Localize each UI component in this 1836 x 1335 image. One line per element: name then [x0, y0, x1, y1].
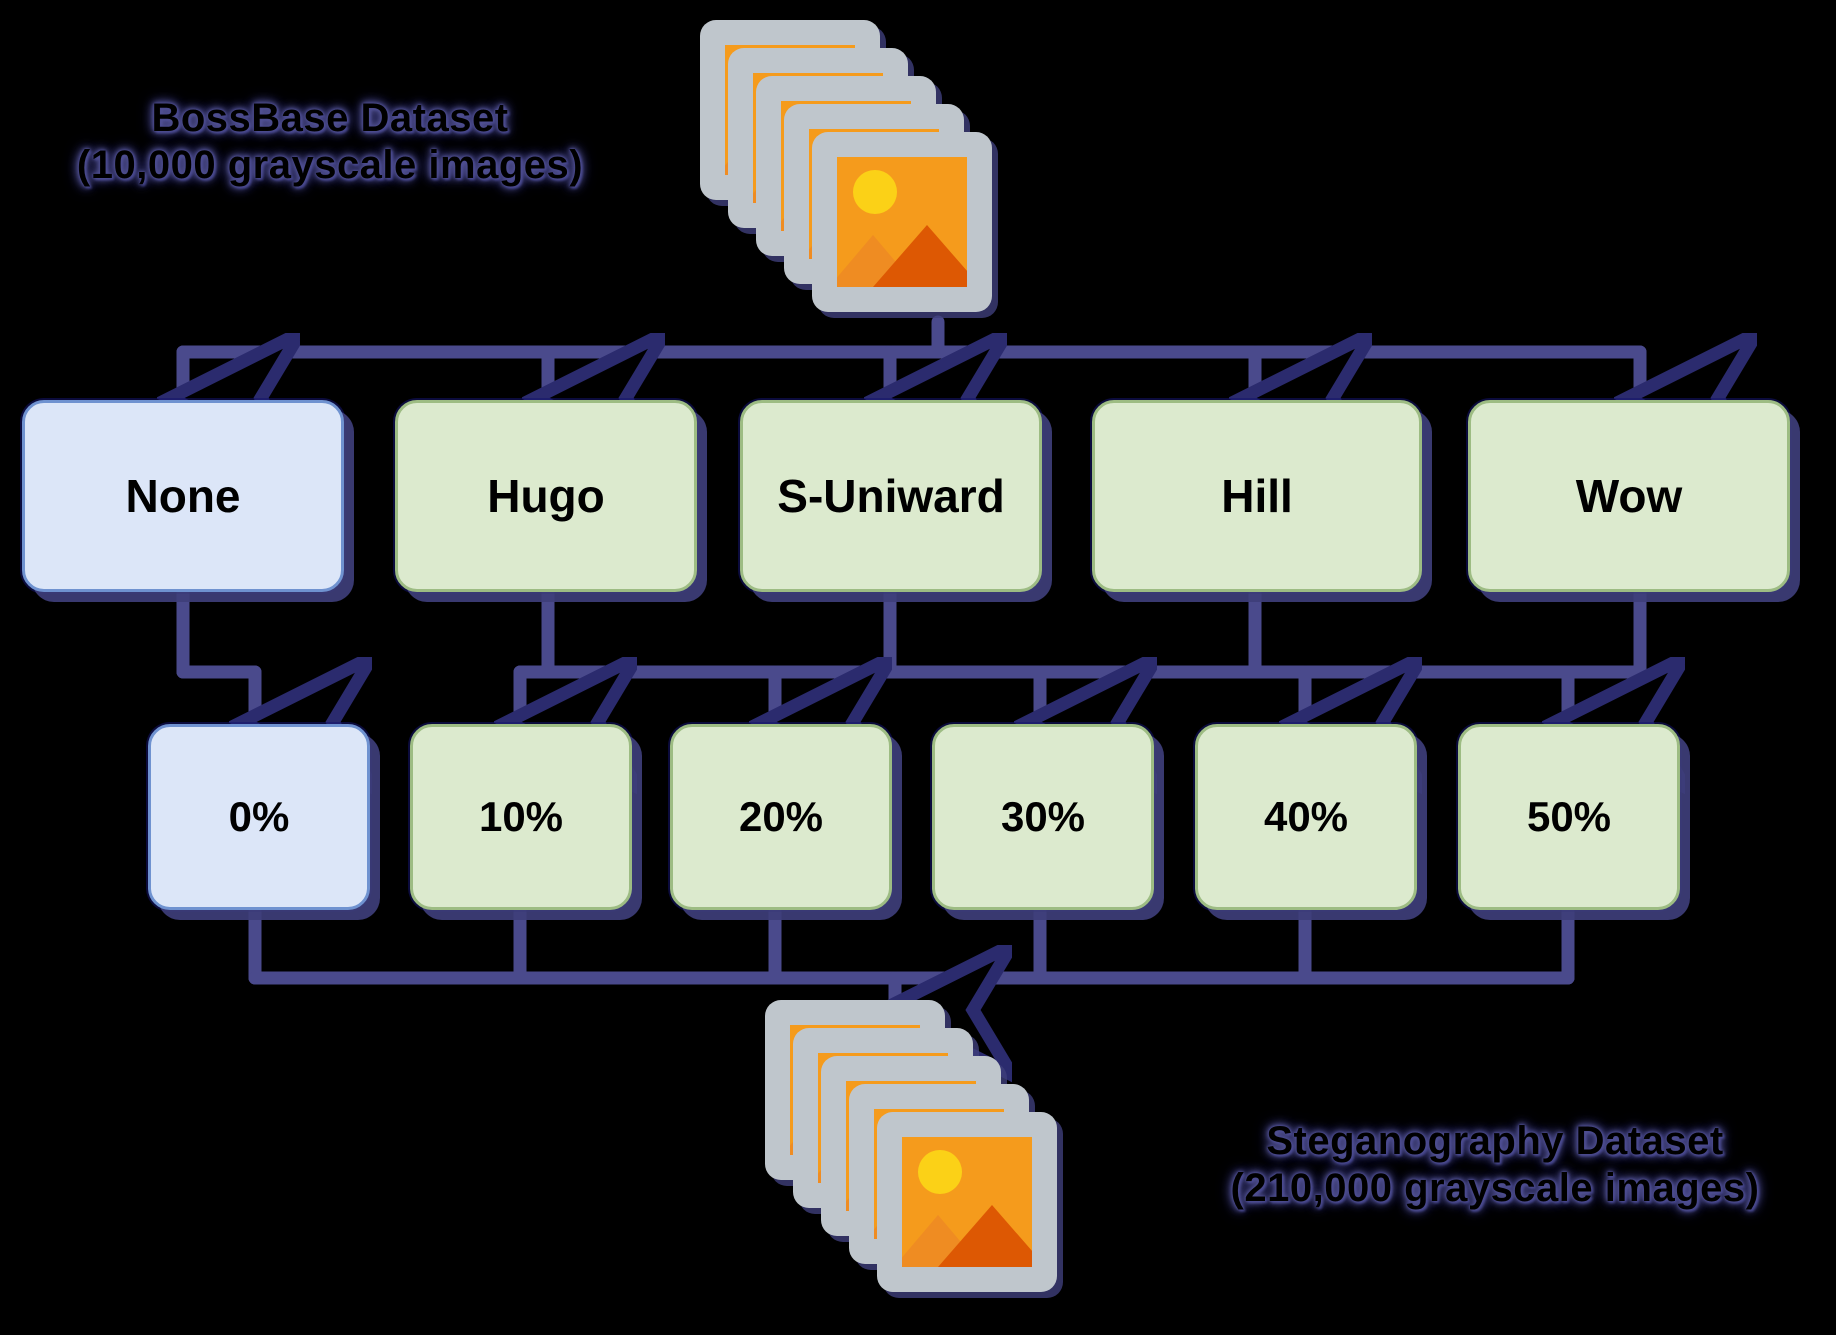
method-node-none[interactable]: None — [22, 400, 344, 592]
rate-node-20[interactable]: 20% — [670, 724, 892, 910]
output-dataset-caption: Steganography Dataset (210,000 grayscale… — [1160, 1118, 1830, 1212]
rate-node-40[interactable]: 40% — [1195, 724, 1417, 910]
source-image-stack-icon — [700, 20, 1000, 320]
method-node-wow[interactable]: Wow — [1468, 400, 1790, 592]
method-node-s-uniward[interactable]: S-Uniward — [740, 400, 1042, 592]
method-node-hugo[interactable]: Hugo — [395, 400, 697, 592]
source-dataset-caption: BossBase Dataset (10,000 grayscale image… — [20, 95, 640, 189]
rate-node-50[interactable]: 50% — [1458, 724, 1680, 910]
diagram-canvas: BossBase Dataset (10,000 grayscale image… — [0, 0, 1836, 1335]
method-node-hill[interactable]: Hill — [1092, 400, 1422, 592]
rate-node-0[interactable]: 0% — [148, 724, 370, 910]
output-image-stack-icon — [765, 1000, 1085, 1320]
rate-node-30[interactable]: 30% — [932, 724, 1154, 910]
rate-node-10[interactable]: 10% — [410, 724, 632, 910]
